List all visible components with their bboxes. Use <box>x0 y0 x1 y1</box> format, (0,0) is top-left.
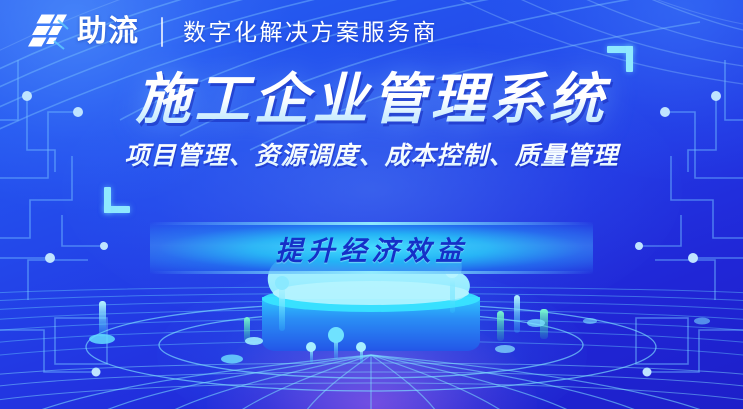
lightning-slash-logo-icon <box>28 11 70 53</box>
headline-block: 施工企业管理系统 项目管理、资源调度、成本控制、质量管理 <box>0 68 743 173</box>
page-title: 施工企业管理系统 <box>0 68 743 130</box>
header-tagline: 数字化解决方案服务商 <box>183 11 438 53</box>
benefit-text: 提升经济效益 <box>276 229 468 268</box>
header-divider <box>161 17 163 47</box>
banner-header: 助流 数字化解决方案服务商 <box>28 8 438 56</box>
page-subtitle: 项目管理、资源调度、成本控制、质量管理 <box>0 139 743 173</box>
cloud-platform-illustration <box>0 259 743 409</box>
logo-text: 助流 <box>77 11 139 53</box>
benefit-bar: 提升经济效益 <box>150 222 593 274</box>
promotional-banner: 助流 数字化解决方案服务商 施工企业管理系统 项目管理、资源调度、成本控制、质量… <box>0 0 743 409</box>
corner-bracket-bottom-left <box>104 187 130 213</box>
